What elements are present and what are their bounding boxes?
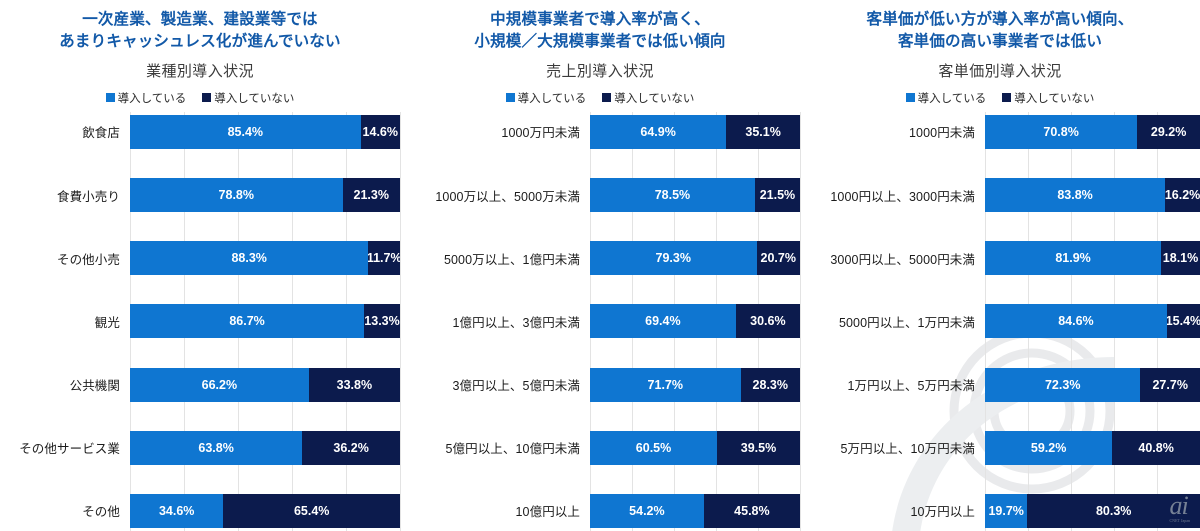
cnet-ai-logo-subtext: CNET Japan [1170, 519, 1190, 523]
stacked-bar[interactable]: 84.6%15.4% [985, 304, 1200, 338]
bar-segment-adopted: 78.5% [590, 178, 755, 212]
chart-row: 公共機関66.2%33.8% [0, 365, 400, 405]
chart-row: 1000万円未満64.9%35.1% [400, 112, 800, 152]
headline-line-1: 客単価が低い方が導入率が高い傾向、 [867, 11, 1134, 28]
infographic-root: ai CNET Japan 一次産業、製造業、建設業等では あまりキャッシュレス… [0, 0, 1200, 531]
category-label: 食費小売り [0, 186, 130, 205]
category-label: 飲食店 [0, 122, 130, 141]
panel-headline: 客単価が低い方が導入率が高い傾向、 客単価の高い事業者では低い [806, 9, 1194, 54]
headline-line-1: 中規模事業者で導入率が高く、 [490, 11, 710, 28]
panel-industry: 一次産業、製造業、建設業等では あまりキャッシュレス化が進んでいない 業種別導入… [0, 0, 400, 531]
bar-segment-not-adopted: 39.5% [717, 431, 800, 465]
bar-segment-adopted: 19.7% [985, 494, 1027, 528]
chart-row: 観光86.7%13.3% [0, 301, 400, 341]
bar-segment-not-adopted: 33.8% [309, 368, 400, 402]
stacked-bar[interactable]: 19.7%80.3% [985, 494, 1200, 528]
chart-title: 業種別導入状況 [6, 63, 394, 81]
chart-plot-area: 飲食店85.4%14.6%食費小売り78.8%21.3%その他小売88.3%11… [0, 112, 400, 531]
legend-label-not-adopted: 導入していない [1014, 90, 1094, 106]
bar-segment-adopted: 60.5% [590, 431, 717, 465]
stacked-bar[interactable]: 72.3%27.7% [985, 368, 1200, 402]
stacked-bar[interactable]: 86.7%13.3% [130, 304, 400, 338]
chart-plot-area: 1000円未満70.8%29.2%1000円以上、3000円未満83.8%16.… [800, 112, 1200, 531]
category-label: 1000円以上、3000円未満 [800, 186, 985, 205]
chart-row: 5億円以上、10億円未満60.5%39.5% [400, 428, 800, 468]
bar-segment-adopted: 34.6% [130, 494, 223, 528]
chart-title: 売上別導入状況 [406, 63, 794, 81]
panel-header: 客単価が低い方が導入率が高い傾向、 客単価の高い事業者では低い 客単価別導入状況… [800, 0, 1200, 106]
panel-unit-price: 客単価が低い方が導入率が高い傾向、 客単価の高い事業者では低い 客単価別導入状況… [800, 0, 1200, 531]
bar-segment-not-adopted: 15.4% [1167, 304, 1200, 338]
category-label: 1000万円未満 [400, 122, 590, 141]
legend-swatch-adopted-icon [506, 93, 515, 102]
stacked-bar[interactable]: 78.5%21.5% [590, 178, 800, 212]
bar-segment-adopted: 64.9% [590, 115, 726, 149]
legend-item-not-adopted: 導入していない [1002, 90, 1094, 106]
chart-row: 5000万以上、1億円未満79.3%20.7% [400, 238, 800, 278]
chart-row: 1000円未満70.8%29.2% [800, 112, 1200, 152]
bar-segment-not-adopted: 28.3% [741, 368, 800, 402]
stacked-bar[interactable]: 60.5%39.5% [590, 431, 800, 465]
chart-row: 1000円以上、3000円未満83.8%16.2% [800, 175, 1200, 215]
chart-legend: 導入している 導入していない [806, 90, 1194, 106]
legend-item-not-adopted: 導入していない [602, 90, 694, 106]
legend-swatch-adopted-icon [906, 93, 915, 102]
category-label: 5000円以上、1万円未満 [800, 312, 985, 331]
bar-segment-not-adopted: 40.8% [1112, 431, 1200, 465]
headline-line-1: 一次産業、製造業、建設業等では [82, 11, 318, 28]
legend-label-adopted: 導入している [918, 90, 987, 106]
stacked-bar[interactable]: 66.2%33.8% [130, 368, 400, 402]
bar-segment-not-adopted: 27.7% [1140, 368, 1200, 402]
bar-segment-adopted: 54.2% [590, 494, 704, 528]
legend-swatch-not-adopted-icon [1002, 93, 1011, 102]
legend-item-not-adopted: 導入していない [202, 90, 294, 106]
stacked-bar[interactable]: 71.7%28.3% [590, 368, 800, 402]
chart-row: その他小売88.3%11.7% [0, 238, 400, 278]
chart-row: 1万円以上、5万円未満72.3%27.7% [800, 365, 1200, 405]
bar-segment-not-adopted: 18.1% [1161, 241, 1200, 275]
panel-header: 中規模事業者で導入率が高く、 小規模／大規模事業者では低い傾向 売上別導入状況 … [400, 0, 800, 106]
bar-segment-not-adopted: 20.7% [757, 241, 800, 275]
bar-segment-adopted: 86.7% [130, 304, 364, 338]
stacked-bar[interactable]: 83.8%16.2% [985, 178, 1200, 212]
chart-row: 食費小売り78.8%21.3% [0, 175, 400, 215]
category-label: 10億円以上 [400, 501, 590, 520]
chart-row: 5万円以上、10万円未満59.2%40.8% [800, 428, 1200, 468]
chart-title: 客単価別導入状況 [806, 63, 1194, 81]
category-label: 1万円以上、5万円未満 [800, 375, 985, 394]
chart-row: 1000万以上、5000万未満78.5%21.5% [400, 175, 800, 215]
bar-segment-not-adopted: 36.2% [302, 431, 400, 465]
panel-headline: 中規模事業者で導入率が高く、 小規模／大規模事業者では低い傾向 [406, 9, 794, 54]
stacked-bar[interactable]: 88.3%11.7% [130, 241, 400, 275]
bar-segment-adopted: 69.4% [590, 304, 736, 338]
category-label: その他 [0, 501, 130, 520]
chart-plot-area: 1000万円未満64.9%35.1%1000万以上、5000万未満78.5%21… [400, 112, 800, 531]
bar-segment-not-adopted: 14.6% [361, 115, 400, 149]
chart-rows: 飲食店85.4%14.6%食費小売り78.8%21.3%その他小売88.3%11… [0, 112, 400, 531]
bar-segment-adopted: 71.7% [590, 368, 741, 402]
stacked-bar[interactable]: 54.2%45.8% [590, 494, 800, 528]
panel-headline: 一次産業、製造業、建設業等では あまりキャッシュレス化が進んでいない [6, 9, 394, 54]
headline-line-2: 客単価の高い事業者では低い [806, 31, 1194, 53]
bar-segment-adopted: 84.6% [985, 304, 1167, 338]
chart-row: その他34.6%65.4% [0, 491, 400, 531]
cnet-ai-logo: ai CNET Japan [1170, 493, 1190, 523]
chart-legend: 導入している 導入していない [406, 90, 794, 106]
chart-row: 10万円以上19.7%80.3% [800, 491, 1200, 531]
legend-label-not-adopted: 導入していない [614, 90, 694, 106]
bar-segment-not-adopted: 29.2% [1137, 115, 1200, 149]
headline-line-2: 小規模／大規模事業者では低い傾向 [406, 31, 794, 53]
bar-segment-not-adopted: 13.3% [364, 304, 400, 338]
category-label: その他サービス業 [0, 438, 130, 457]
category-label: 1000万以上、5000万未満 [400, 186, 590, 205]
bar-segment-adopted: 66.2% [130, 368, 309, 402]
legend-swatch-not-adopted-icon [602, 93, 611, 102]
category-label: 1億円以上、3億円未満 [400, 312, 590, 331]
chart-rows: 1000万円未満64.9%35.1%1000万以上、5000万未満78.5%21… [400, 112, 800, 531]
category-label: 3000円以上、5000円未満 [800, 249, 985, 268]
chart-legend: 導入している 導入していない [6, 90, 394, 106]
bar-segment-adopted: 83.8% [985, 178, 1165, 212]
stacked-bar[interactable]: 79.3%20.7% [590, 241, 800, 275]
bar-segment-adopted: 70.8% [985, 115, 1137, 149]
cnet-ai-logo-text: ai [1170, 491, 1188, 520]
bar-segment-not-adopted: 65.4% [223, 494, 400, 528]
stacked-bar[interactable]: 70.8%29.2% [985, 115, 1200, 149]
legend-label-not-adopted: 導入していない [214, 90, 294, 106]
stacked-bar[interactable]: 69.4%30.6% [590, 304, 800, 338]
bar-segment-not-adopted: 30.6% [736, 304, 800, 338]
category-label: 5万円以上、10万円未満 [800, 438, 985, 457]
legend-swatch-adopted-icon [106, 93, 115, 102]
legend-item-adopted: 導入している [906, 90, 987, 106]
category-label: 5億円以上、10億円未満 [400, 438, 590, 457]
panel-header: 一次産業、製造業、建設業等では あまりキャッシュレス化が進んでいない 業種別導入… [0, 0, 400, 106]
panel-revenue: 中規模事業者で導入率が高く、 小規模／大規模事業者では低い傾向 売上別導入状況 … [400, 0, 800, 531]
bar-segment-adopted: 63.8% [130, 431, 302, 465]
bar-segment-not-adopted: 21.3% [343, 178, 400, 212]
bar-segment-not-adopted: 16.2% [1165, 178, 1200, 212]
stacked-bar[interactable]: 78.8%21.3% [130, 178, 400, 212]
bar-segment-not-adopted: 35.1% [726, 115, 800, 149]
stacked-bar[interactable]: 63.8%36.2% [130, 431, 400, 465]
stacked-bar[interactable]: 64.9%35.1% [590, 115, 800, 149]
bar-segment-not-adopted: 11.7% [368, 241, 400, 275]
bar-segment-adopted: 88.3% [130, 241, 368, 275]
stacked-bar[interactable]: 59.2%40.8% [985, 431, 1200, 465]
bar-segment-not-adopted: 21.5% [755, 178, 800, 212]
bar-segment-adopted: 79.3% [590, 241, 757, 275]
chart-row: 3000円以上、5000円未満81.9%18.1% [800, 238, 1200, 278]
bar-segment-adopted: 81.9% [985, 241, 1161, 275]
chart-row: 5000円以上、1万円未満84.6%15.4% [800, 301, 1200, 341]
bar-segment-adopted: 59.2% [985, 431, 1112, 465]
category-label: 10万円以上 [800, 501, 985, 520]
chart-row: 1億円以上、3億円未満69.4%30.6% [400, 301, 800, 341]
category-label: 5000万以上、1億円未満 [400, 249, 590, 268]
chart-row: その他サービス業63.8%36.2% [0, 428, 400, 468]
stacked-bar[interactable]: 81.9%18.1% [985, 241, 1200, 275]
legend-swatch-not-adopted-icon [202, 93, 211, 102]
bar-segment-adopted: 78.8% [130, 178, 343, 212]
legend-label-adopted: 導入している [118, 90, 187, 106]
category-label: 1000円未満 [800, 122, 985, 141]
bar-segment-adopted: 85.4% [130, 115, 361, 149]
chart-row: 10億円以上54.2%45.8% [400, 491, 800, 531]
legend-label-adopted: 導入している [518, 90, 587, 106]
legend-item-adopted: 導入している [106, 90, 187, 106]
chart-row: 飲食店85.4%14.6% [0, 112, 400, 152]
chart-row: 3億円以上、5億円未満71.7%28.3% [400, 365, 800, 405]
legend-item-adopted: 導入している [506, 90, 587, 106]
category-label: 観光 [0, 312, 130, 331]
stacked-bar[interactable]: 85.4%14.6% [130, 115, 400, 149]
category-label: 3億円以上、5億円未満 [400, 375, 590, 394]
category-label: その他小売 [0, 249, 130, 268]
stacked-bar[interactable]: 34.6%65.4% [130, 494, 400, 528]
headline-line-2: あまりキャッシュレス化が進んでいない [6, 31, 394, 53]
bar-segment-not-adopted: 45.8% [704, 494, 800, 528]
bar-segment-adopted: 72.3% [985, 368, 1140, 402]
chart-rows: 1000円未満70.8%29.2%1000円以上、3000円未満83.8%16.… [800, 112, 1200, 531]
category-label: 公共機関 [0, 375, 130, 394]
